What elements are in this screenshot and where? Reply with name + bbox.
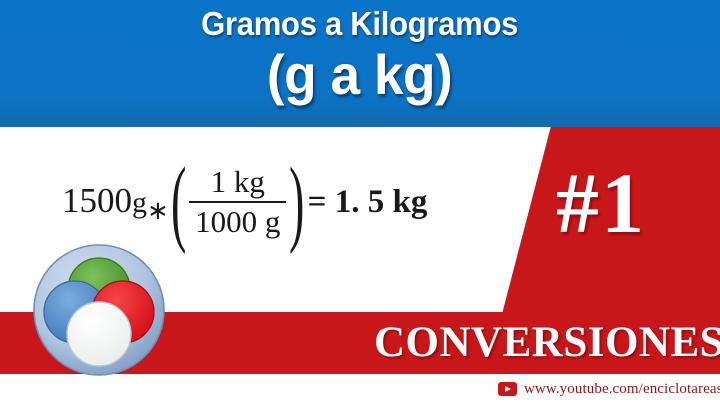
header-content: Gramos a Kilogramos (g a kg) — [0, 0, 720, 127]
lesson-number-text: #1 — [556, 157, 646, 249]
header-band: Gramos a Kilogramos (g a kg) — [0, 0, 720, 127]
equation-equals-sign: = — [308, 184, 327, 220]
brand-word-text: CONVERSIONES — [374, 318, 720, 368]
page-subtitle: (g a kg) — [267, 42, 452, 108]
youtube-play-icon — [498, 382, 517, 396]
equation-result-value: 1. 5 kg — [335, 184, 428, 220]
thumbnail-canvas: Gramos a Kilogramos (g a kg) #1 1500g∗ (… — [0, 0, 720, 404]
equation-paren-close: ) — [289, 154, 304, 250]
logo-svg — [31, 242, 167, 378]
lesson-number-badge: #1 — [556, 148, 716, 258]
youtube-play-triangle — [505, 386, 511, 392]
equation-fraction: 1 kg 1000 g — [189, 164, 286, 240]
equation-left-side: 1500g∗ — [62, 181, 170, 224]
channel-url-text: www.youtube.com/enciclotareas — [524, 380, 720, 398]
channel-url[interactable]: www.youtube.com/enciclotareas — [498, 379, 720, 399]
page-title: Gramos a Kilogramos — [201, 4, 518, 44]
logo-white-circle — [67, 302, 131, 366]
brand-word: CONVERSIONES — [374, 316, 720, 370]
equation-paren-open: ( — [171, 154, 186, 250]
equation-quantity-unit: g — [132, 186, 147, 219]
fraction-numerator: 1 kg — [205, 164, 271, 201]
equation-operator: ∗ — [147, 196, 169, 225]
equation-quantity: 1500 — [62, 181, 132, 220]
fraction-denominator: 1000 g — [189, 203, 286, 240]
enciclotareas-logo — [31, 242, 167, 378]
equation-result: = 1. 5 kg — [308, 182, 428, 222]
conversion-equation: 1500g∗ ( 1 kg 1000 g ) = 1. 5 kg — [62, 152, 502, 252]
